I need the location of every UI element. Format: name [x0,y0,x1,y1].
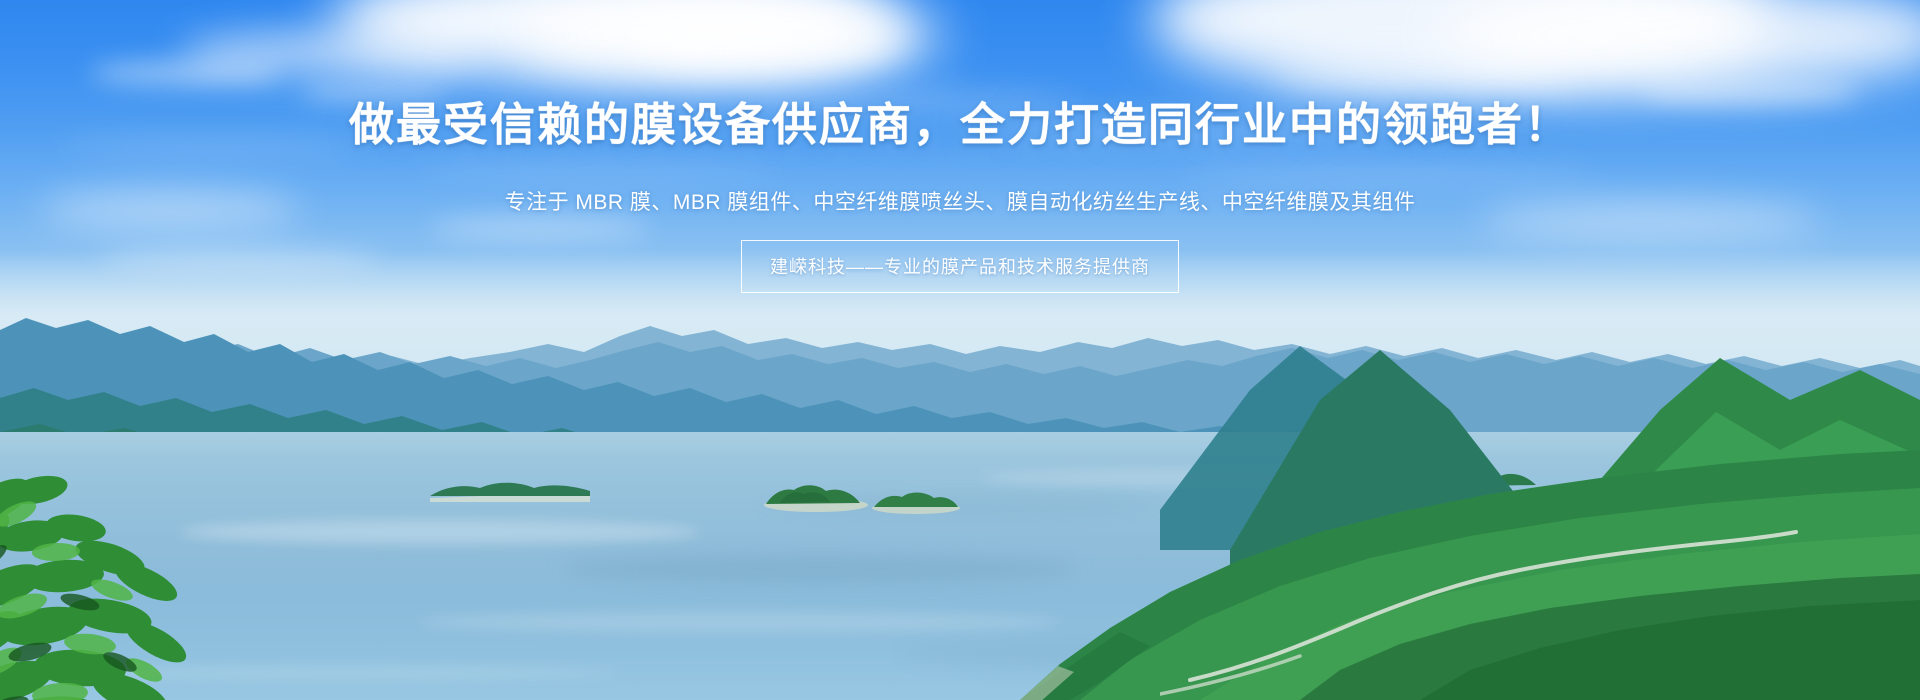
banner-tagline-wrapper: 建嵘科技——专业的膜产品和技术服务提供商 [0,240,1920,293]
hero-banner: 做最受信赖的膜设备供应商，全力打造同行业中的领跑者！ 专注于 MBR 膜、MBR… [0,0,1920,700]
banner-tagline-box[interactable]: 建嵘科技——专业的膜产品和技术服务提供商 [741,240,1179,293]
banner-headline: 做最受信赖的膜设备供应商，全力打造同行业中的领跑者！ [0,98,1920,151]
banner-subheadline: 专注于 MBR 膜、MBR 膜组件、中空纤维膜喷丝头、膜自动化纺丝生产线、中空纤… [0,186,1920,216]
foliage-lower-right [0,560,1920,700]
